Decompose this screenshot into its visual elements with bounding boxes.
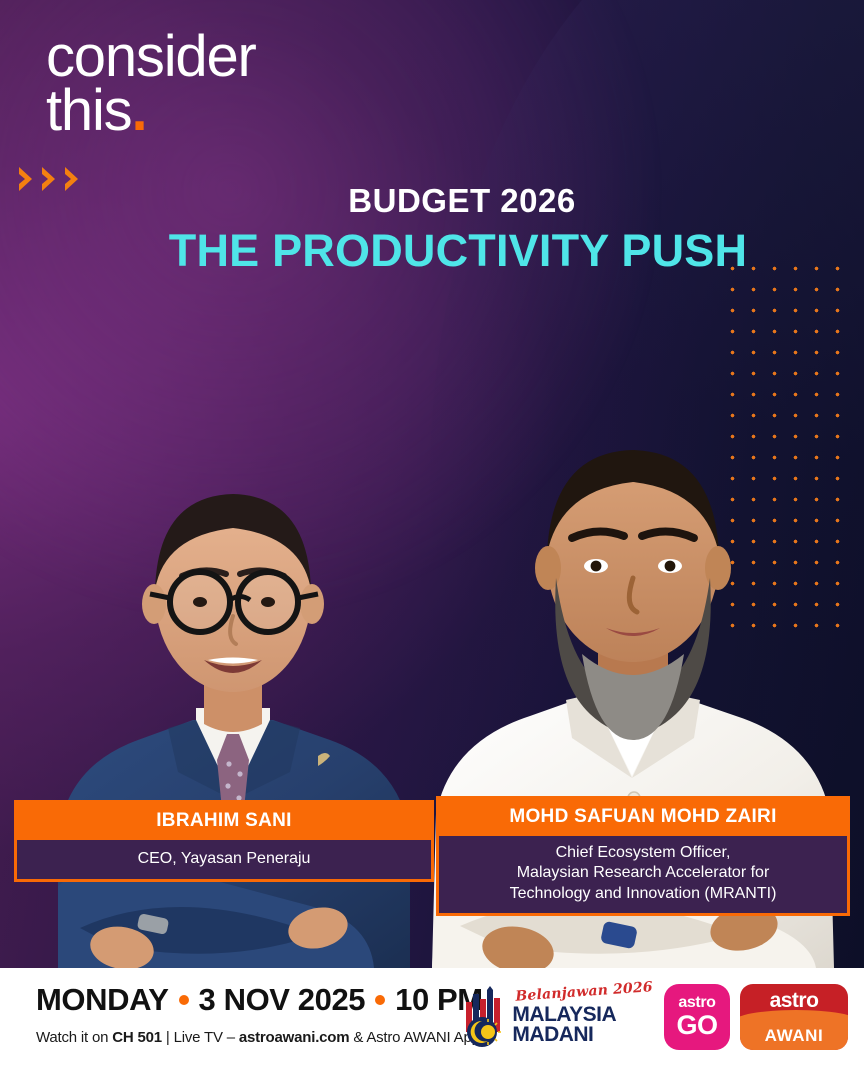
partner-logos: Belanjawan 2026 MALAYSIA MADANI astro GO… bbox=[462, 984, 848, 1050]
astro-awani-top: astro bbox=[770, 989, 819, 1013]
speaker-card-1: MOHD SAFUAN MOHD ZAIRI Chief Ecosystem O… bbox=[436, 796, 850, 916]
watch-prefix: Watch it on bbox=[36, 1029, 112, 1046]
speaker-role: Chief Ecosystem Officer, Malaysian Resea… bbox=[439, 836, 847, 913]
brand-line-2: this. bbox=[46, 84, 256, 138]
speaker-name: IBRAHIM SANI bbox=[17, 803, 431, 840]
madani-script-line: Belanjawan 2026 bbox=[511, 980, 653, 1004]
broadcast-details: MONDAY 3 NOV 2025 10 PM Watch it on CH 5… bbox=[36, 982, 483, 1046]
astro-awani-bottom: AWANI bbox=[765, 1026, 824, 1045]
watch-live-label: Live TV – bbox=[174, 1029, 239, 1046]
watch-website[interactable]: astroawani.com bbox=[239, 1029, 350, 1046]
malaysia-madani-tower-icon bbox=[462, 986, 508, 1048]
madani-line-2: MADANI bbox=[512, 1025, 654, 1045]
logo-malaysia-madani: Belanjawan 2026 MALAYSIA MADANI bbox=[462, 986, 654, 1048]
speaker-role-line: Malaysian Research Accelerator for bbox=[447, 863, 839, 883]
madani-line-1: MALAYSIA bbox=[512, 1005, 654, 1025]
separator-dot-icon bbox=[375, 995, 385, 1005]
watch-channel: CH 501 bbox=[112, 1029, 162, 1046]
poster-root: consider this. BUDGET 2026 THE PRODUCTIV… bbox=[0, 0, 864, 1080]
brand-line-1: consider bbox=[46, 30, 256, 84]
brand-word-this: this bbox=[46, 78, 131, 143]
speaker-role-line: CEO, Yayasan Peneraju bbox=[25, 849, 423, 869]
headline-block: BUDGET 2026 THE PRODUCTIVITY PUSH bbox=[0, 182, 864, 277]
speaker-role: CEO, Yayasan Peneraju bbox=[17, 840, 431, 879]
logo-astro-go[interactable]: astro GO bbox=[664, 984, 730, 1050]
brand-lockup: consider this. bbox=[46, 30, 256, 138]
watch-divider: | bbox=[162, 1029, 174, 1046]
separator-dot-icon bbox=[179, 995, 189, 1005]
brand-dot: . bbox=[131, 78, 146, 143]
broadcast-footer: MONDAY 3 NOV 2025 10 PM Watch it on CH 5… bbox=[0, 968, 864, 1080]
broadcast-day: MONDAY bbox=[36, 982, 169, 1018]
broadcast-datetime: MONDAY 3 NOV 2025 10 PM bbox=[36, 982, 483, 1018]
watch-instructions: Watch it on CH 501 | Live TV – astroawan… bbox=[36, 1029, 483, 1046]
speaker-name: MOHD SAFUAN MOHD ZAIRI bbox=[439, 799, 847, 836]
speaker-card-0: IBRAHIM SANI CEO, Yayasan Peneraju bbox=[14, 800, 434, 882]
astro-go-bottom: GO bbox=[676, 1011, 717, 1039]
madani-wordmark: Belanjawan 2026 MALAYSIA MADANI bbox=[512, 990, 654, 1045]
headline-kicker: BUDGET 2026 bbox=[0, 182, 864, 220]
astro-go-top: astro bbox=[678, 995, 715, 1011]
artwork-stage: consider this. BUDGET 2026 THE PRODUCTIV… bbox=[0, 0, 864, 968]
speaker-role-line: Technology and Innovation (MRANTI) bbox=[447, 884, 839, 904]
watch-suffix: & Astro AWANI App bbox=[349, 1029, 479, 1046]
broadcast-date: 3 NOV 2025 bbox=[199, 982, 366, 1018]
page-title: THE PRODUCTIVITY PUSH bbox=[0, 225, 864, 277]
astro-awani-bottom-band: AWANI bbox=[740, 1026, 848, 1046]
speaker-role-line: Chief Ecosystem Officer, bbox=[447, 843, 839, 863]
logo-astro-awani[interactable]: astro AWANI bbox=[740, 984, 848, 1050]
